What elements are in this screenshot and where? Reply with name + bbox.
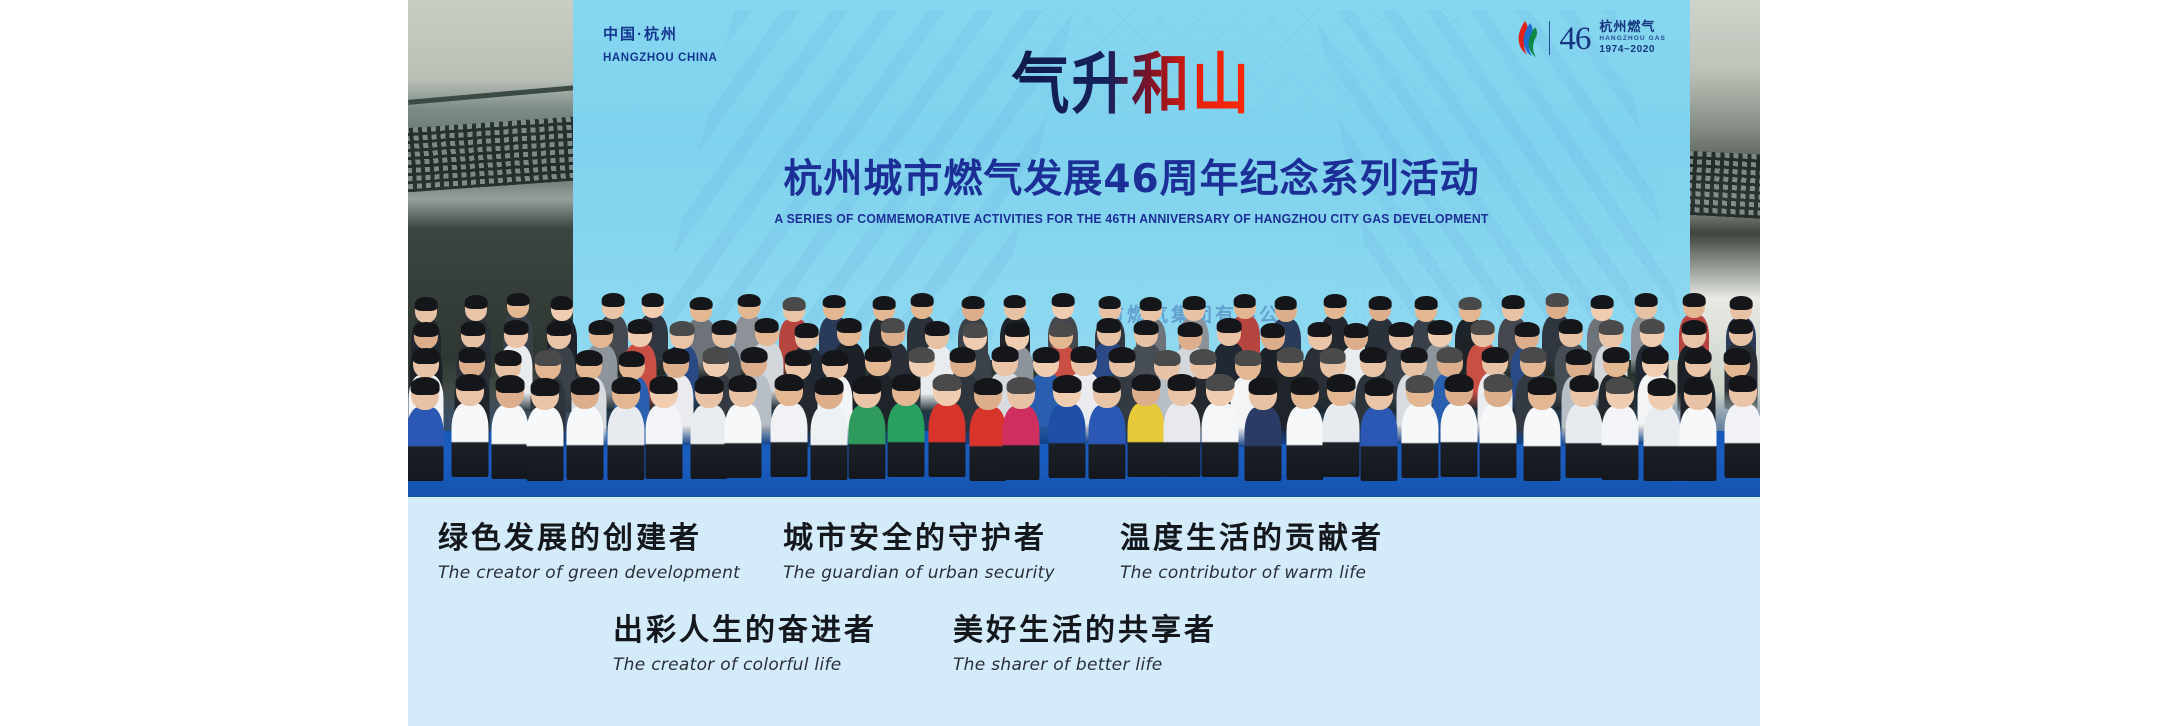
person-body bbox=[1163, 403, 1200, 477]
person-hair bbox=[534, 350, 561, 366]
person-hair bbox=[1369, 296, 1392, 310]
person-hair bbox=[738, 294, 761, 308]
person-hair bbox=[865, 346, 892, 362]
slogan-item: 美好生活的共享者The sharer of better life bbox=[953, 615, 1217, 675]
person-hair bbox=[1481, 347, 1508, 363]
person bbox=[1480, 372, 1517, 478]
person-hair bbox=[1096, 318, 1121, 333]
person-hair bbox=[1290, 377, 1319, 395]
person-body bbox=[1401, 404, 1438, 478]
person-hair bbox=[1565, 349, 1592, 365]
person-hair bbox=[1053, 375, 1082, 393]
person-hair bbox=[740, 347, 767, 363]
person-hair bbox=[1684, 377, 1713, 395]
person bbox=[1724, 372, 1760, 478]
slogan-item: 绿色发展的创建者The creator of green development bbox=[438, 523, 740, 583]
person bbox=[408, 375, 444, 481]
person-hair bbox=[1154, 350, 1181, 366]
slogan-item: 城市安全的守护者The guardian of urban security bbox=[783, 523, 1055, 583]
person-hair bbox=[1217, 318, 1242, 333]
person bbox=[1003, 374, 1040, 480]
person-body bbox=[849, 405, 886, 479]
company-name-cn: 杭州燃气 bbox=[1599, 19, 1666, 35]
person-hair bbox=[911, 293, 934, 307]
person-hair bbox=[1052, 293, 1075, 307]
person bbox=[1245, 375, 1282, 481]
person-body bbox=[645, 405, 682, 479]
slogan-cn: 美好生活的共享者 bbox=[953, 615, 1217, 647]
person-hair bbox=[1167, 374, 1196, 392]
person bbox=[1523, 375, 1560, 481]
person-hair bbox=[641, 293, 664, 307]
person-hair bbox=[1683, 293, 1706, 307]
person-body bbox=[1088, 405, 1125, 479]
person-hair bbox=[1546, 293, 1569, 307]
person-body bbox=[969, 407, 1006, 481]
slogan-cn: 温度生活的贡献者 bbox=[1120, 523, 1384, 555]
person-body bbox=[1322, 403, 1359, 477]
slogan-en: The guardian of urban security bbox=[783, 563, 1055, 583]
person-body bbox=[1003, 406, 1040, 480]
person-hair bbox=[1365, 378, 1394, 396]
person-hair bbox=[1307, 322, 1332, 337]
person-hair bbox=[1400, 347, 1427, 363]
person bbox=[928, 371, 965, 477]
person-body bbox=[607, 406, 644, 480]
person-hair bbox=[455, 374, 484, 392]
person-hair bbox=[411, 377, 440, 395]
person bbox=[1322, 371, 1359, 477]
person-hair bbox=[588, 320, 613, 335]
logo-company-text: 杭州燃气 HANGZHOU GAS 1974~2020 bbox=[1599, 19, 1666, 57]
hero-logo-text: 气升和山 bbox=[1011, 51, 1251, 118]
person-hair bbox=[1484, 374, 1513, 392]
person-hair bbox=[1515, 322, 1540, 337]
person-body bbox=[1440, 403, 1477, 477]
slogan-cn: 城市安全的守护者 bbox=[783, 523, 1055, 555]
person-hair bbox=[1131, 374, 1160, 392]
person-hair bbox=[1276, 347, 1303, 363]
person-hair bbox=[1235, 350, 1262, 366]
person-hair bbox=[1324, 294, 1347, 308]
banner-headline: 杭州城市燃气发展46周年纪念系列活动 bbox=[573, 160, 1690, 199]
person-hair bbox=[1389, 322, 1414, 337]
person-hair bbox=[507, 293, 530, 307]
slogan-en: The contributor of warm life bbox=[1120, 563, 1384, 583]
person-hair bbox=[1444, 374, 1473, 392]
person-hair bbox=[618, 351, 645, 367]
person-body bbox=[1245, 407, 1282, 481]
person-hair bbox=[1049, 322, 1074, 337]
person-hair bbox=[414, 322, 439, 337]
group-photo: 中国·杭州 HANGZHOU CHINA 46 杭州燃气 HANGZHOU GA… bbox=[408, 0, 1760, 497]
person-hair bbox=[1326, 374, 1355, 392]
person-hair bbox=[1134, 320, 1159, 335]
person-body bbox=[1202, 403, 1239, 477]
person-hair bbox=[1527, 377, 1556, 395]
person-hair bbox=[712, 320, 737, 335]
person-hair bbox=[1428, 320, 1453, 335]
person-hair bbox=[932, 374, 961, 392]
person-hair bbox=[873, 296, 896, 310]
person-hair bbox=[1344, 323, 1369, 338]
person bbox=[1643, 375, 1680, 481]
person-hair bbox=[1724, 348, 1751, 364]
slogan-en: The creator of green development bbox=[438, 563, 740, 583]
person-hair bbox=[794, 323, 819, 338]
person-body bbox=[1480, 404, 1517, 478]
person-hair bbox=[1459, 297, 1482, 311]
person-hair bbox=[1642, 347, 1669, 363]
person-hair bbox=[962, 296, 985, 310]
person-hair bbox=[908, 347, 935, 363]
anniversary-number: 46 bbox=[1559, 23, 1590, 56]
person bbox=[1049, 372, 1086, 478]
person-body bbox=[527, 407, 564, 481]
person-body bbox=[1565, 404, 1602, 478]
poster-content: 中国·杭州 HANGZHOU CHINA 46 杭州燃气 HANGZHOU GA… bbox=[408, 0, 1760, 726]
person-hair bbox=[1070, 346, 1097, 362]
slogan-cn: 出彩人生的奋进者 bbox=[613, 615, 877, 647]
person-hair bbox=[415, 297, 438, 311]
person-hair bbox=[570, 377, 599, 395]
person-hair bbox=[461, 321, 486, 336]
person bbox=[1565, 372, 1602, 478]
person-body bbox=[1286, 406, 1323, 480]
person-hair bbox=[1007, 377, 1036, 395]
hangzhou-gas-logo: 46 杭州燃气 HANGZHOU GAS 1974~2020 bbox=[1514, 18, 1666, 58]
person-hair bbox=[1569, 375, 1598, 393]
person-body bbox=[1127, 403, 1164, 477]
person-hair bbox=[1249, 377, 1278, 395]
person-hair bbox=[1139, 297, 1162, 311]
person bbox=[771, 371, 808, 477]
person-hair bbox=[1635, 293, 1658, 307]
person-hair bbox=[1032, 347, 1059, 363]
person-hair bbox=[1730, 296, 1753, 310]
person bbox=[849, 373, 886, 479]
person-hair bbox=[822, 350, 849, 366]
person-hair bbox=[1436, 347, 1463, 363]
person bbox=[810, 374, 847, 480]
person bbox=[1127, 371, 1164, 477]
person bbox=[451, 371, 488, 477]
person-hair bbox=[1178, 322, 1203, 337]
person-hair bbox=[973, 378, 1002, 396]
person-hair bbox=[1190, 349, 1217, 365]
person-hair bbox=[690, 297, 713, 311]
slogan-en: The sharer of better life bbox=[953, 655, 1217, 675]
person-hair bbox=[1558, 319, 1583, 334]
person-body bbox=[690, 405, 727, 479]
person-hair bbox=[495, 375, 524, 393]
person-hair bbox=[1520, 347, 1547, 363]
person-hair bbox=[1005, 322, 1030, 337]
person-hair bbox=[924, 321, 949, 336]
person bbox=[1680, 375, 1717, 481]
person-body bbox=[810, 406, 847, 480]
person-hair bbox=[949, 347, 976, 363]
person-hair bbox=[1233, 294, 1256, 308]
person-hair bbox=[1415, 296, 1438, 310]
person-body bbox=[928, 403, 965, 477]
person-hair bbox=[465, 295, 488, 309]
person-hair bbox=[550, 296, 573, 310]
person-hair bbox=[1206, 374, 1235, 392]
person bbox=[1361, 375, 1398, 481]
person-hair bbox=[576, 350, 603, 366]
person-hair bbox=[1647, 378, 1676, 396]
person-hair bbox=[1605, 377, 1634, 395]
person-hair bbox=[1682, 320, 1707, 335]
person-hair bbox=[602, 293, 625, 307]
person-hair bbox=[783, 297, 806, 311]
person-hair bbox=[1260, 323, 1285, 338]
person-hair bbox=[992, 346, 1019, 362]
person-hair bbox=[531, 378, 560, 396]
person-hair bbox=[1360, 347, 1387, 363]
person-hair bbox=[853, 376, 882, 394]
person-hair bbox=[670, 321, 695, 336]
person-body bbox=[724, 404, 761, 478]
person-hair bbox=[412, 348, 439, 364]
slogan-panel: 绿色发展的创建者The creator of green development… bbox=[408, 497, 1760, 726]
person-hair bbox=[784, 350, 811, 366]
person-hair bbox=[1685, 348, 1712, 364]
person bbox=[1202, 371, 1239, 477]
person-hair bbox=[1598, 320, 1623, 335]
person bbox=[969, 375, 1006, 481]
person-body bbox=[1643, 407, 1680, 481]
crowd-group bbox=[408, 197, 1760, 497]
person-body bbox=[566, 406, 603, 480]
person-hair bbox=[628, 319, 653, 334]
person-hair bbox=[1319, 348, 1346, 364]
person bbox=[1088, 373, 1125, 479]
person-hair bbox=[880, 318, 905, 333]
person-body bbox=[771, 403, 808, 477]
person bbox=[566, 374, 603, 480]
person bbox=[1401, 372, 1438, 478]
person bbox=[491, 373, 528, 479]
person-hair bbox=[1502, 295, 1525, 309]
page-root: 中国·杭州 HANGZHOU CHINA 46 杭州燃气 HANGZHOU GA… bbox=[0, 0, 2179, 726]
person-hair bbox=[1640, 319, 1665, 334]
person-hair bbox=[495, 350, 522, 366]
person-hair bbox=[891, 374, 920, 392]
person-body bbox=[491, 405, 528, 479]
person-hair bbox=[1003, 295, 1026, 309]
person bbox=[607, 374, 644, 480]
venue-grille-left bbox=[408, 115, 594, 192]
person bbox=[1286, 374, 1323, 480]
person bbox=[1163, 371, 1200, 477]
person-hair bbox=[962, 323, 987, 338]
person-hair bbox=[458, 347, 485, 363]
person-hair bbox=[1274, 296, 1297, 310]
person-body bbox=[451, 403, 488, 477]
person bbox=[527, 375, 564, 481]
person-body bbox=[1361, 407, 1398, 481]
person-hair bbox=[754, 318, 779, 333]
slogan-cn: 绿色发展的创建者 bbox=[438, 523, 740, 555]
person-hair bbox=[1183, 296, 1206, 310]
location-cn: 中国·杭州 bbox=[603, 24, 717, 47]
logo-divider bbox=[1549, 21, 1551, 55]
person-hair bbox=[547, 321, 572, 336]
slogan-en: The creator of colorful life bbox=[613, 655, 877, 675]
person-body bbox=[1049, 404, 1086, 478]
person-body bbox=[1601, 406, 1638, 480]
person-hair bbox=[1098, 296, 1121, 310]
person-hair bbox=[1092, 376, 1121, 394]
person-hair bbox=[814, 377, 843, 395]
person bbox=[1440, 371, 1477, 477]
person-hair bbox=[611, 377, 640, 395]
person-hair bbox=[837, 318, 862, 333]
slogan-item: 出彩人生的奋进者The creator of colorful life bbox=[613, 615, 877, 675]
person bbox=[887, 371, 924, 477]
person-hair bbox=[1591, 295, 1614, 309]
slogan-item: 温度生活的贡献者The contributor of warm life bbox=[1120, 523, 1384, 583]
person bbox=[1601, 374, 1638, 480]
person-hair bbox=[504, 320, 529, 335]
hero-artistic-logo: 气升和山 bbox=[573, 55, 1690, 113]
person bbox=[645, 373, 682, 479]
person-body bbox=[1523, 407, 1560, 481]
person-hair bbox=[1109, 347, 1136, 363]
person-body bbox=[1724, 404, 1760, 478]
person bbox=[724, 372, 761, 478]
person-hair bbox=[823, 295, 846, 309]
person-hair bbox=[1728, 375, 1757, 393]
company-name-en: HANGZHOU GAS bbox=[1599, 35, 1666, 43]
person-hair bbox=[694, 376, 723, 394]
person-hair bbox=[703, 347, 730, 363]
person-hair bbox=[1603, 347, 1630, 363]
person-hair bbox=[775, 374, 804, 392]
person-hair bbox=[728, 375, 757, 393]
person bbox=[690, 373, 727, 479]
person-hair bbox=[649, 376, 678, 394]
person-hair bbox=[662, 348, 689, 364]
person-hair bbox=[1405, 375, 1434, 393]
person-body bbox=[1680, 407, 1717, 481]
person-hair bbox=[1728, 319, 1753, 334]
person-body bbox=[887, 403, 924, 477]
flame-icon bbox=[1514, 18, 1540, 58]
person-hair bbox=[1470, 320, 1495, 335]
person-body bbox=[408, 407, 444, 481]
